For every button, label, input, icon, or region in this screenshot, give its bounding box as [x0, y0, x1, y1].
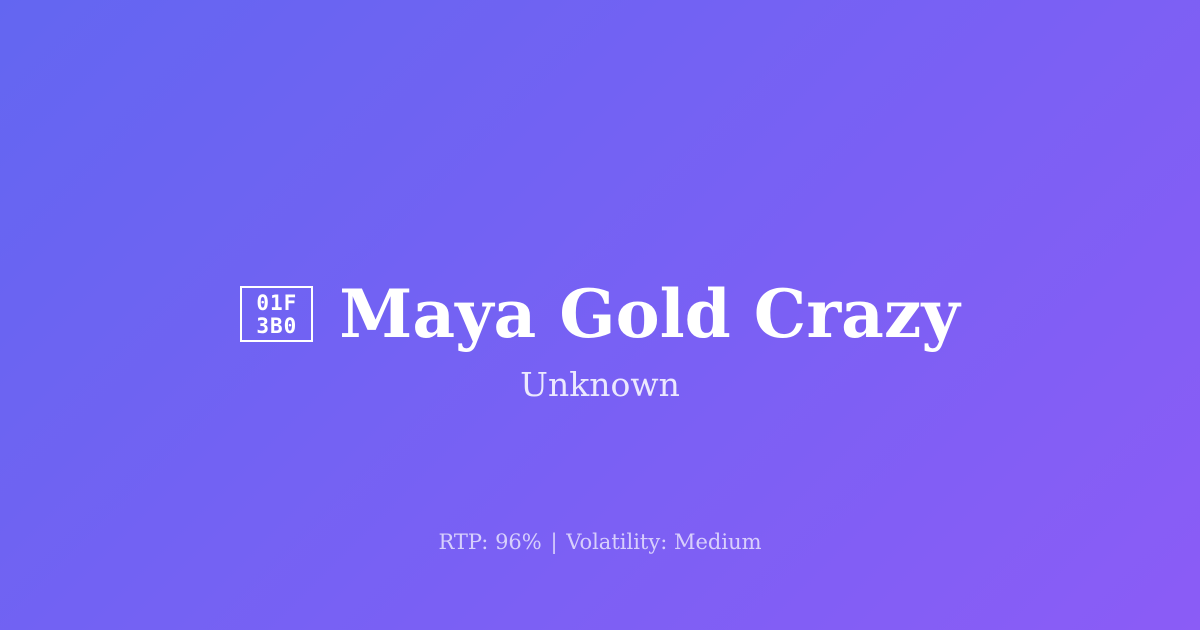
game-promo-card: 01F 3B0 Maya Gold Crazy Unknown RTP: 96%… — [0, 0, 1200, 630]
rtp-label: RTP: — [438, 530, 488, 554]
volatility-value: Medium — [674, 530, 762, 554]
game-title: Maya Gold Crazy — [339, 278, 959, 350]
volatility-label: Volatility: — [566, 530, 667, 554]
meta-separator: | — [548, 530, 559, 554]
game-provider: Unknown — [0, 365, 1200, 405]
codepoint-lower: 3B0 — [256, 315, 297, 338]
missing-glyph-box: 01F 3B0 — [240, 286, 313, 342]
codepoint-upper: 01F — [256, 292, 297, 315]
slot-machine-icon: 01F 3B0 — [240, 286, 313, 342]
game-meta: RTP: 96% | Volatility: Medium — [0, 528, 1200, 556]
rtp-value: 96% — [495, 530, 542, 554]
